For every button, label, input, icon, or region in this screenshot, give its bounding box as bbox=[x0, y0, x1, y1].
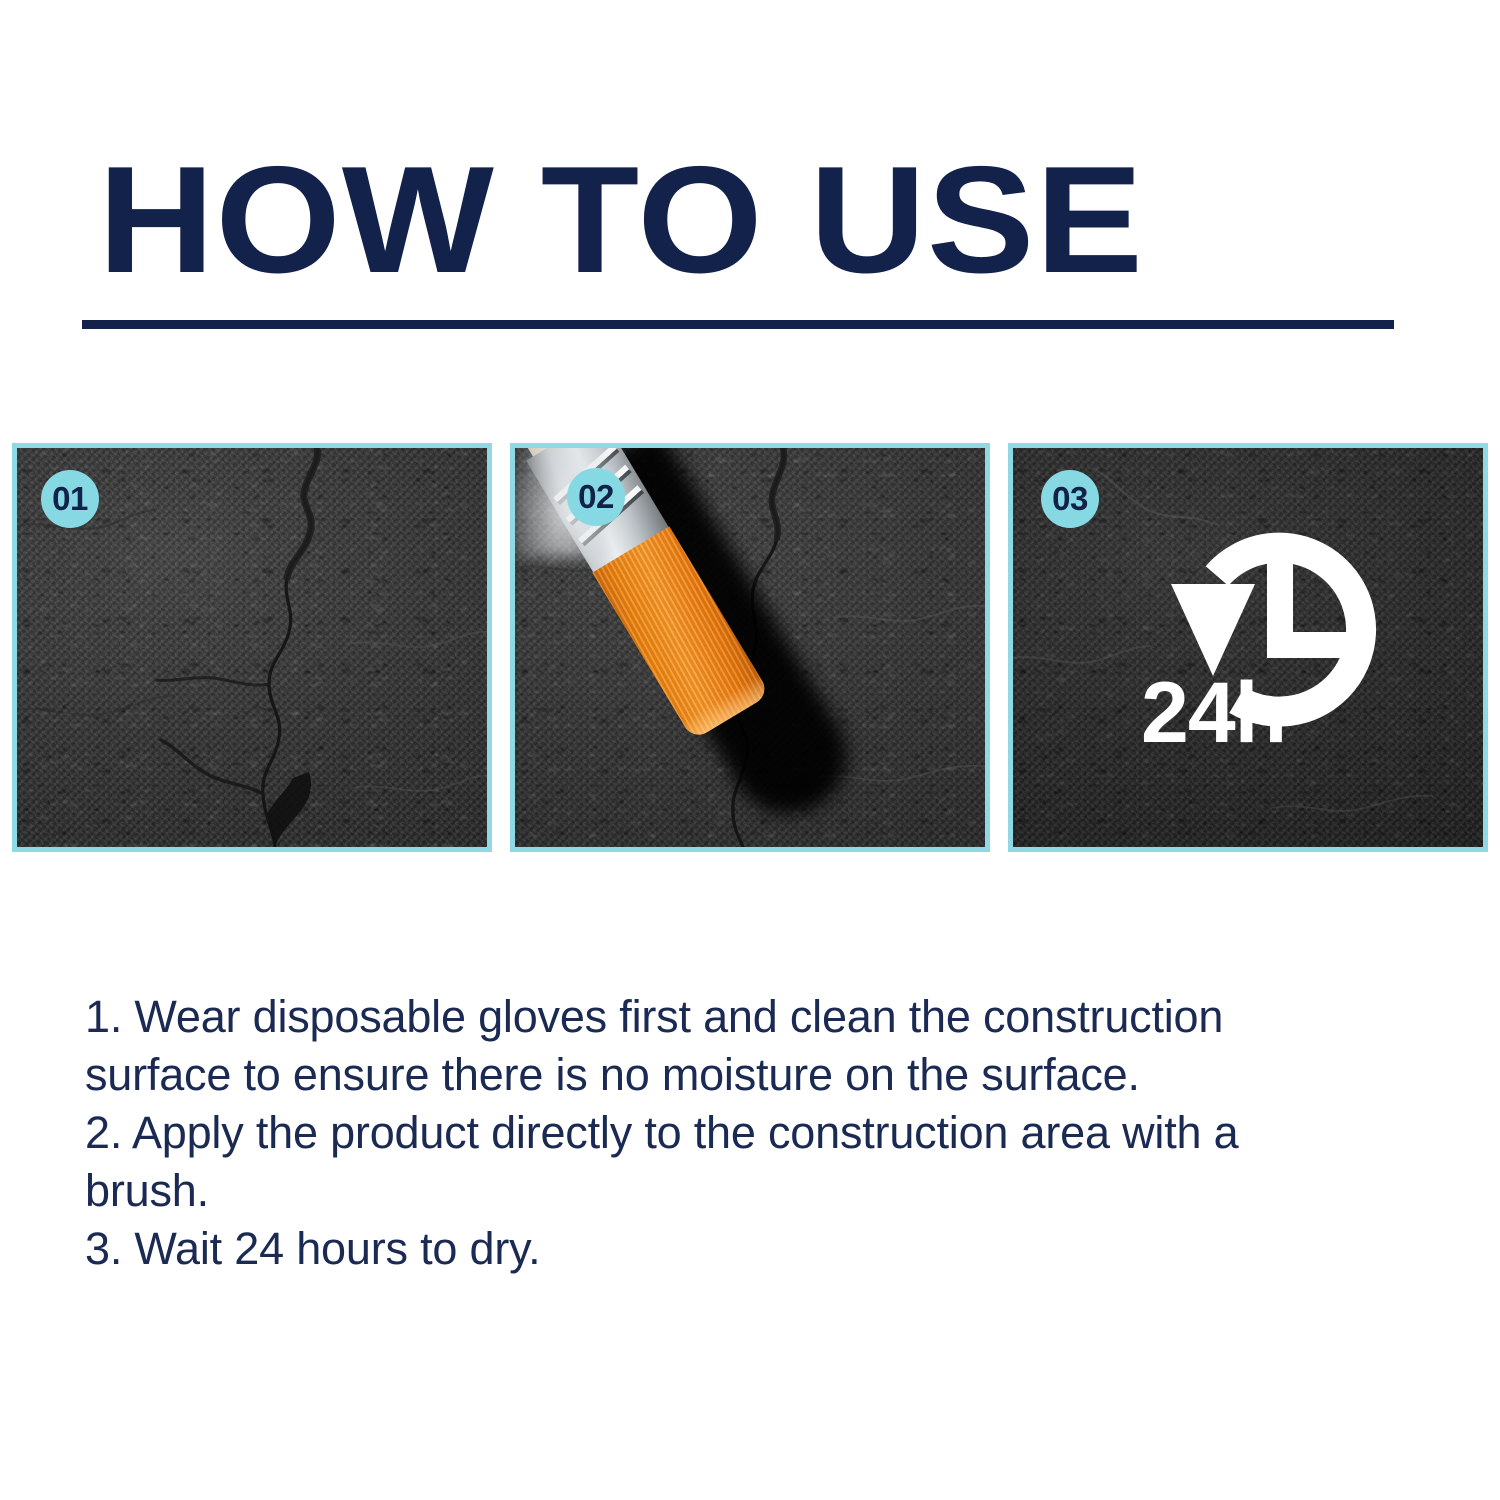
instruction-line: 1. Wear disposable gloves first and clea… bbox=[85, 988, 1435, 1046]
instruction-line: surface to ensure there is no moisture o… bbox=[85, 1046, 1435, 1104]
step-panel-3: 24h 03 bbox=[1008, 443, 1488, 852]
step-panel-2-image: 02 bbox=[515, 448, 985, 847]
page-title: HOW TO USE bbox=[98, 140, 1482, 300]
instruction-line: 3. Wait 24 hours to dry. bbox=[85, 1220, 1435, 1278]
step-panel-row: 01 bbox=[12, 443, 1488, 852]
step-badge-3: 03 bbox=[1041, 470, 1099, 528]
step-panel-1: 01 bbox=[12, 443, 492, 852]
instruction-line: brush. bbox=[85, 1162, 1435, 1220]
step-panel-1-image: 01 bbox=[17, 448, 487, 847]
header: HOW TO USE bbox=[0, 0, 1500, 340]
step-panel-2: 02 bbox=[510, 443, 990, 852]
instructions-block: 1. Wear disposable gloves first and clea… bbox=[85, 988, 1435, 1278]
step-badge-2: 02 bbox=[567, 468, 625, 526]
step-panel-3-image: 24h 03 bbox=[1013, 448, 1483, 847]
clock-24h-label: 24h bbox=[1141, 670, 1286, 756]
step-badge-1: 01 bbox=[41, 470, 99, 528]
title-underline-divider bbox=[82, 320, 1394, 329]
instruction-line: 2. Apply the product directly to the con… bbox=[85, 1104, 1435, 1162]
